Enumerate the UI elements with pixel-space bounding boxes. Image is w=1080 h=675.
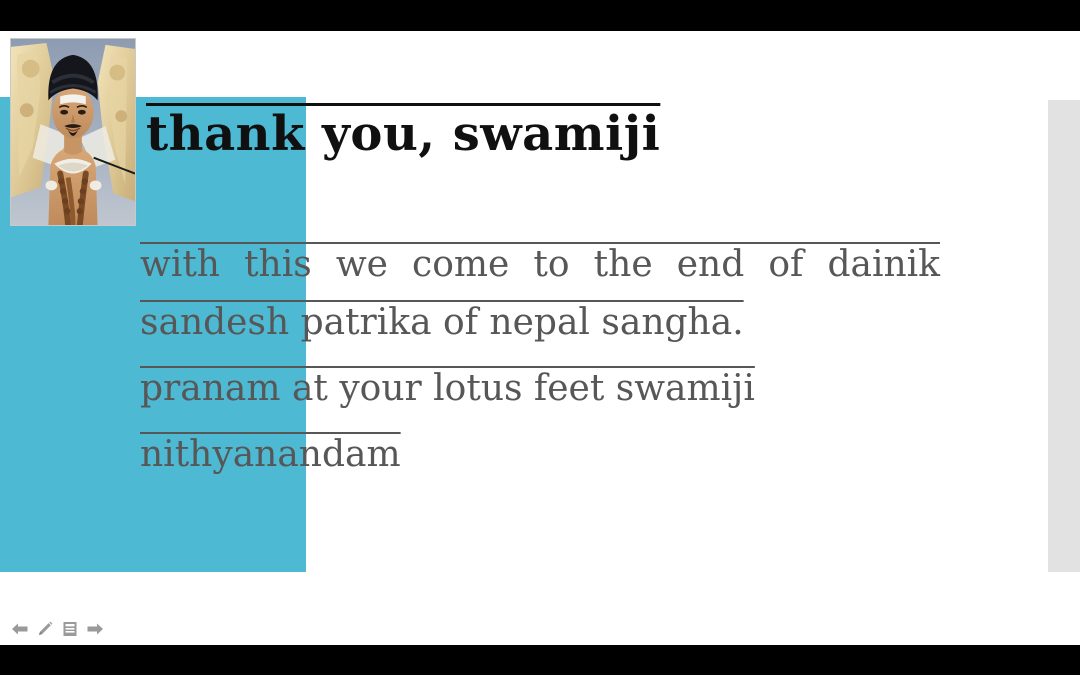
previous-page-button[interactable] bbox=[8, 616, 32, 642]
next-page-button[interactable] bbox=[83, 616, 107, 642]
letterbox-top-bar bbox=[0, 0, 1080, 31]
letterbox-bottom-bar bbox=[0, 645, 1080, 675]
notes-icon bbox=[60, 619, 80, 639]
viewer-toolbar bbox=[8, 615, 107, 643]
notes-button[interactable] bbox=[58, 616, 82, 642]
slide-body: with this we come to the end of dainik s… bbox=[140, 236, 940, 484]
arrow-left-icon bbox=[10, 619, 30, 639]
body-paragraph-1: with this we come to the end of dainik s… bbox=[140, 236, 940, 352]
arrow-right-icon bbox=[85, 619, 105, 639]
vertical-scrollbar[interactable] bbox=[1048, 100, 1080, 572]
slide-title: thank you, swamiji bbox=[146, 106, 946, 162]
body-paragraph-3: nithyanandam bbox=[140, 426, 940, 484]
document-viewer: thank you, swamiji with this we come to … bbox=[0, 0, 1080, 675]
slide-page: thank you, swamiji with this we come to … bbox=[0, 31, 1080, 645]
pencil-icon bbox=[35, 619, 55, 639]
annotate-button[interactable] bbox=[33, 616, 57, 642]
body-paragraph-2: pranam at your lotus feet swamiji bbox=[140, 360, 940, 418]
slide-text-layer: thank you, swamiji with this we come to … bbox=[0, 31, 1080, 645]
